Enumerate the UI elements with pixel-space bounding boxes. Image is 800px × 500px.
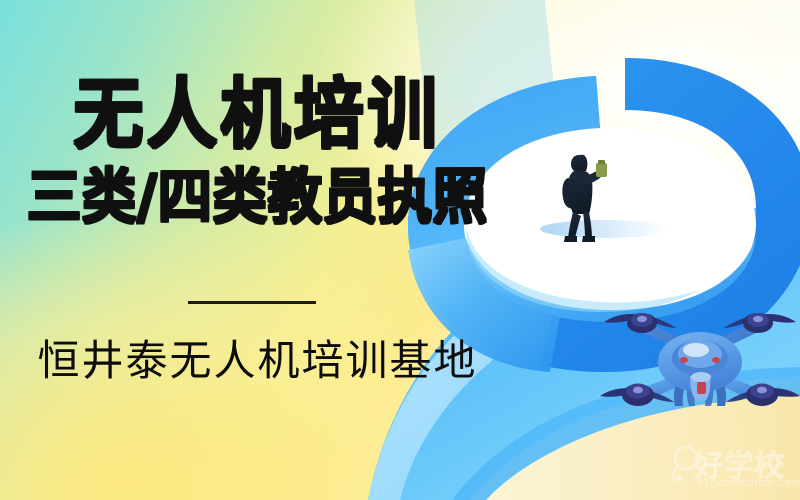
person-floor-shadow	[540, 220, 668, 238]
divider-rule	[188, 301, 316, 304]
promo-banner: 无人机培训 三类/四类教员执照 恒井泰无人机培训基地 好学校 91goodsch…	[0, 0, 800, 500]
headline-line-1: 无人机培训	[0, 78, 520, 154]
headline-line-2: 三类/四类教员执照	[0, 168, 515, 227]
brand-name: 恒井泰无人机培训基地	[0, 338, 515, 384]
text-column: 无人机培训 三类/四类教员执照 恒井泰无人机培训基地	[0, 0, 515, 500]
